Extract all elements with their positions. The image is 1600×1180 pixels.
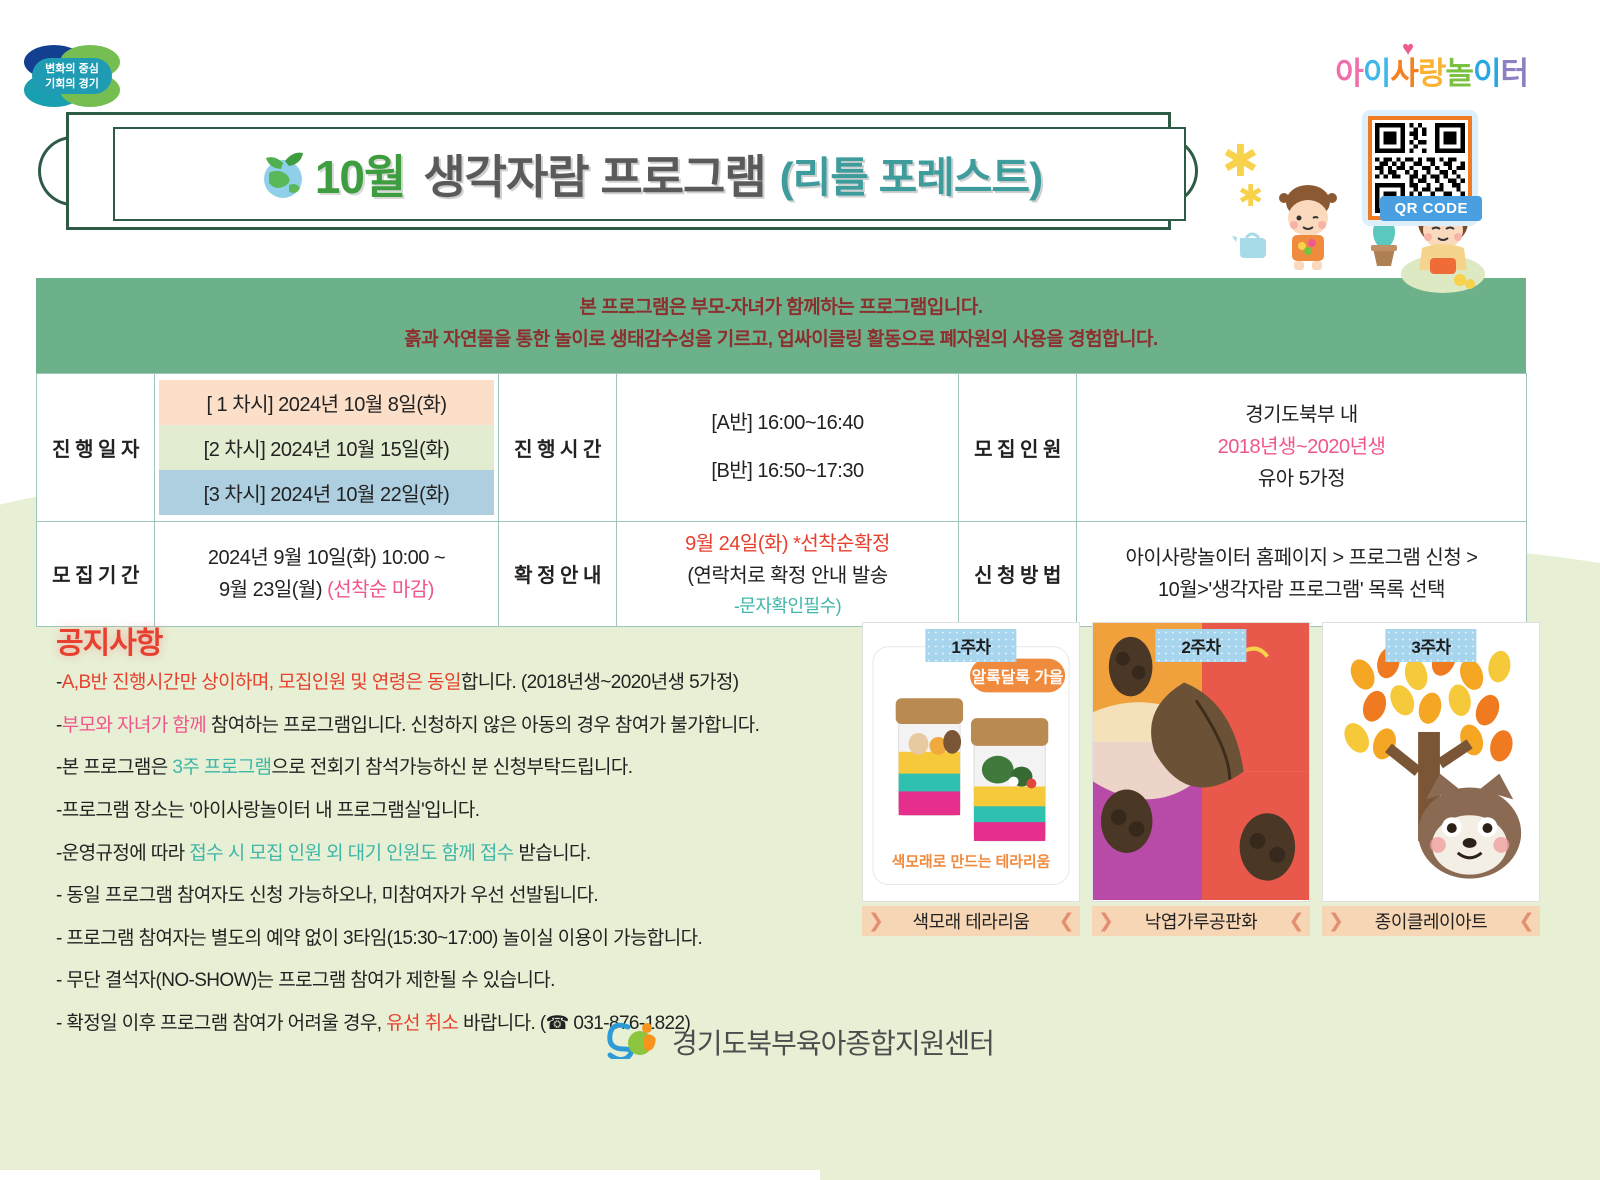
art-subtitle-week1: 색모래로 만드는 테라리움 <box>892 854 1051 871</box>
cell-quota: 경기도북부 내 2018년생~2020년생 유아 5가정 <box>1077 373 1527 521</box>
activity-card-week3: 3주차 <box>1322 622 1540 936</box>
period-end-date: 9월 23일(월) <box>219 579 327 601</box>
title-banner: 10월 생각자람 프로그램 (리틀 포레스트) <box>38 112 1198 230</box>
activity-caption-week3: ❯ 종이클레이아트 ❮ <box>1322 906 1540 936</box>
gyeonggi-logo-line2: 기회의 경기 <box>45 76 99 90</box>
notice-item-2-segment-3: 참여하는 프로그램입니다. 신청하지 않은 아동의 경우 참여가 불가합니다. <box>206 715 759 736</box>
notice-item: - 무단 결석자(NO-SHOW)는 프로그램 참여가 제한될 수 있습니다. <box>56 968 856 994</box>
activity-cards: 1주차 <box>862 622 1542 936</box>
notice-item-5-segment-3: 받습니다. <box>514 843 591 864</box>
table-row: 진 행 일 자 [ 1 차시] 2024년 10월 8일(화) [2 차시] 2… <box>37 373 1527 521</box>
earth-sprout-icon <box>257 147 311 201</box>
confirm-date: 9월 24일(화) *선착순확정 <box>621 528 954 560</box>
activity-card-week1: 1주차 <box>862 622 1080 936</box>
notice-item-4-segment-1: -프로그램 장소는 '아이사랑놀이터 내 프로그램실'입니다. <box>56 800 479 821</box>
footer: 경기도북부육아종합지원센터 <box>0 1019 1600 1064</box>
notice-item: -프로그램 장소는 '아이사랑놀이터 내 프로그램실'입니다. <box>56 798 856 824</box>
quota-region: 경기도북부 내 <box>1081 399 1522 431</box>
brand-char-6: 이 <box>1473 48 1501 93</box>
intro-line-2: 흙과 자연물을 통한 놀이로 생태감수성을 기르고, 업싸이클링 활동으로 폐자… <box>36 324 1526 356</box>
activity-caption-week1: ❯ 색모래 테라리움 ❮ <box>862 906 1080 936</box>
period-line-1: 2024년 9월 10일(화) 10:00 ~ <box>159 542 494 574</box>
chevron-right-icon: ❯ <box>868 910 883 933</box>
chevron-right-icon: ❯ <box>1098 910 1113 933</box>
week-tag-3: 3주차 <box>1385 629 1476 662</box>
program-intro-banner: 본 프로그램은 부모-자녀가 함께하는 프로그램입니다. 흙과 자연물을 통한 … <box>36 278 1526 373</box>
notice-item-3-segment-1: -본 프로그램은 <box>56 757 172 778</box>
intro-line-1: 본 프로그램은 부모-자녀가 함께하는 프로그램입니다. <box>36 292 1526 324</box>
brand-char-5: 놀 <box>1445 48 1473 93</box>
terrarium-art: 알록달록 가을 색모래로 만드는 테라리움 <box>863 623 1079 900</box>
chevron-left-icon: ❮ <box>1519 910 1534 933</box>
activity-caption-text-1: 색모래 테라리움 <box>913 908 1030 934</box>
label-program-dates: 진 행 일 자 <box>37 373 155 521</box>
cell-program-dates: [ 1 차시] 2024년 10월 8일(화) [2 차시] 2024년 10월… <box>155 373 499 521</box>
title-month: 10월 <box>315 141 406 207</box>
notice-list: -A,B반 진행시간만 상이하며, 모집인원 및 연령은 동일합니다. (201… <box>56 670 856 1037</box>
notice-item-2-segment-2: 부모와 자녀가 함께 <box>62 715 206 736</box>
paper-clay-art <box>1323 623 1539 900</box>
cell-how-to-apply: 아이사랑놀이터 홈페이지 > 프로그램 신청 > 10월>'생각자람 프로그램'… <box>1077 521 1527 627</box>
activity-photo-week1: 1주차 <box>862 622 1080 902</box>
date-session-1: [ 1 차시] 2024년 10월 8일(화) <box>159 380 494 425</box>
chevron-left-icon: ❮ <box>1059 910 1074 933</box>
label-application-period: 모 집 기 간 <box>37 521 155 627</box>
notice-item: -운영규정에 따라 접수 시 모집 인원 외 대기 인원도 함께 접수 받습니다… <box>56 841 856 867</box>
date-session-2: [2 차시] 2024년 10월 15일(화) <box>159 425 494 470</box>
gyeonggi-logo-line1: 변화의 중심 <box>45 61 99 75</box>
brand-char-7: 터 <box>1500 48 1528 93</box>
title-outer-frame: 10월 생각자람 프로그램 (리틀 포레스트) <box>66 112 1171 230</box>
notice-item-6-segment-1: - 동일 프로그램 참여자도 신청 가능하오나, 미참여자가 우선 선발됩니다. <box>56 885 598 906</box>
watering-can-icon <box>1232 222 1274 267</box>
cell-application-period: 2024년 9월 10일(화) 10:00 ~ 9월 23일(월) (선착순 마… <box>155 521 499 627</box>
chevron-left-icon: ❮ <box>1289 910 1304 933</box>
cell-program-time: [A반] 16:00~16:40 [B반] 16:50~17:30 <box>617 373 959 521</box>
label-quota: 모 집 인 원 <box>959 373 1077 521</box>
cell-confirmation: 9월 24일(화) *선착순확정 (연락처로 확정 안내 발송 -문자확인필수) <box>617 521 959 627</box>
table-row: 모 집 기 간 2024년 9월 10일(화) 10:00 ~ 9월 23일(월… <box>37 521 1527 627</box>
notice-item: - 동일 프로그램 참여자도 신청 가능하오나, 미참여자가 우선 선발됩니다. <box>56 883 856 909</box>
brand-char-1: 아 <box>1335 48 1363 93</box>
date-session-3: [3 차시] 2024년 10월 22일(화) <box>159 470 494 515</box>
notice-item-3-segment-3: 으로 전회기 참석가능하신 분 신청부탁드립니다. <box>271 757 632 778</box>
sparkle-icon-small: ✱ <box>1238 182 1263 212</box>
notice-item: - 프로그램 참여자는 별도의 예약 없이 3타임(15:30~17:00) 놀… <box>56 926 856 952</box>
confirm-note: (연락처로 확정 안내 발송 <box>621 560 954 592</box>
activity-caption-week2: ❯ 낙엽가루공판화 ❮ <box>1092 906 1310 936</box>
title-inner-frame: 10월 생각자람 프로그램 (리틀 포레스트) <box>113 127 1186 221</box>
time-class-b: [B반] 16:50~17:30 <box>621 447 954 495</box>
center-logo-icon <box>606 1019 662 1064</box>
art-title-week1: 알록달록 가을 <box>972 667 1064 686</box>
time-class-a: [A반] 16:00~16:40 <box>621 399 954 447</box>
notice-item-7-segment-1: - 프로그램 참여자는 별도의 예약 없이 3타임(15:30~17:00) 놀… <box>56 928 702 949</box>
leaf-print-art <box>1093 623 1309 900</box>
child-character-boy <box>1272 180 1344 277</box>
quota-birth-years: 2018년생~2020년생 <box>1081 431 1522 463</box>
confirm-sms-note: -문자확인필수) <box>621 592 954 621</box>
notice-item-1-segment-2: A,B반 진행시간만 상이하며, 모집인원 및 연령은 동일 <box>62 672 461 693</box>
label-how-to-apply: 신 청 방 법 <box>959 521 1077 627</box>
sparkle-icon-large: ✱ <box>1222 140 1259 184</box>
gyeonggi-logo: 변화의 중심 기회의 경기 <box>18 42 126 110</box>
period-line-2: 9월 23일(월) (선착순 마감) <box>159 574 494 606</box>
notice-section: 공지사항 -A,B반 진행시간만 상이하며, 모집인원 및 연령은 동일합니다.… <box>56 618 856 1054</box>
label-program-time: 진 행 시 간 <box>499 373 617 521</box>
activity-photo-week3: 3주차 <box>1322 622 1540 902</box>
activity-caption-text-3: 종이클레이아트 <box>1375 908 1487 934</box>
activity-caption-text-2: 낙엽가루공판화 <box>1145 908 1257 934</box>
notice-title: 공지사항 <box>56 618 856 662</box>
qr-code-label: QR CODE <box>1380 196 1482 221</box>
notice-item: -A,B반 진행시간만 상이하며, 모집인원 및 연령은 동일합니다. (201… <box>56 670 856 696</box>
notice-item: -본 프로그램은 3주 프로그램으로 전회기 참석가능하신 분 신청부탁드립니다… <box>56 755 856 781</box>
notice-item: -부모와 자녀가 함께 참여하는 프로그램입니다. 신청하지 않은 아동의 경우… <box>56 713 856 739</box>
notice-item-5-segment-1: -운영규정에 따라 <box>56 843 189 864</box>
notice-item-3-segment-2: 3주 프로그램 <box>172 757 271 778</box>
title-subtitle: (리틀 포레스트) <box>780 144 1042 205</box>
quota-families: 유아 5가정 <box>1081 463 1522 495</box>
label-confirmation: 확 정 안 내 <box>499 521 617 627</box>
activity-photo-week2: 2주차 <box>1092 622 1310 902</box>
notice-item-5-segment-2: 접수 시 모집 인원 외 대기 인원도 함께 접수 <box>189 843 513 864</box>
period-note: (선착순 마감) <box>327 579 434 601</box>
notice-item-8-segment-1: - 무단 결석자(NO-SHOW)는 프로그램 참여가 제한될 수 있습니다. <box>56 970 555 991</box>
week-tag-2: 2주차 <box>1155 629 1246 662</box>
ailove-playground-logo: 아이사랑놀이터 <box>1335 48 1528 93</box>
footer-organization: 경기도북부육아종합지원센터 <box>672 1022 994 1062</box>
brand-char-2: 이 <box>1363 48 1391 93</box>
activity-card-week2: 2주차 <box>1092 622 1310 936</box>
title-main: 생각자람 프로그램 <box>423 141 765 207</box>
heart-icon: ♥ <box>1402 38 1414 61</box>
info-table-section: 본 프로그램은 부모-자녀가 함께하는 프로그램입니다. 흙과 자연물을 통한 … <box>36 278 1526 627</box>
apply-path-line-2: 10월>'생각자람 프로그램' 목록 선택 <box>1081 574 1522 606</box>
notice-item-1-segment-3: 합니다. (2018년생~2020년생 5가정) <box>461 672 739 693</box>
apply-path-line-1: 아이사랑놀이터 홈페이지 > 프로그램 신청 > <box>1081 542 1522 574</box>
chevron-right-icon: ❯ <box>1328 910 1343 933</box>
program-info-table: 진 행 일 자 [ 1 차시] 2024년 10월 8일(화) [2 차시] 2… <box>36 373 1527 628</box>
week-tag-1: 1주차 <box>925 629 1016 662</box>
brand-char-4: 랑 <box>1418 48 1446 93</box>
